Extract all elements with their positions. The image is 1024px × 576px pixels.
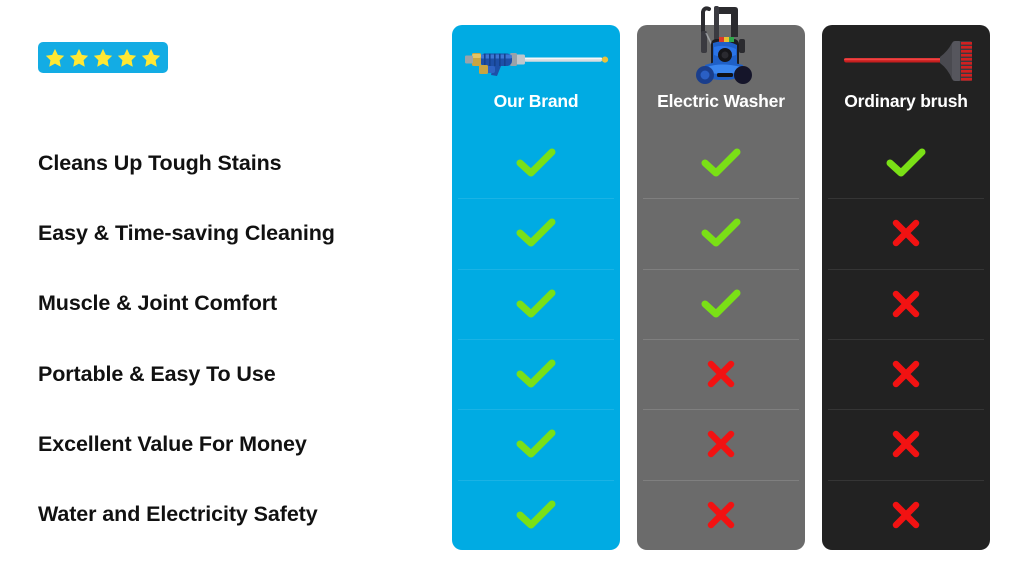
mark-cell (452, 269, 620, 339)
column-header-our-brand: Our Brand (452, 91, 620, 128)
mark-cell (822, 409, 990, 479)
comparison-column-electric-washer: Electric Washer (637, 25, 805, 550)
mark-cell (452, 409, 620, 479)
star-icon (116, 47, 138, 69)
feature-label: Excellent Value For Money (38, 432, 307, 457)
comparison-column-our-brand: Our Brand (452, 25, 620, 550)
product-image-ordinary-brush (822, 25, 990, 91)
check-icon (699, 214, 743, 252)
check-icon (514, 355, 558, 393)
feature-label: Portable & Easy To Use (38, 362, 276, 387)
feature-label: Easy & Time-saving Cleaning (38, 221, 335, 246)
column-title: Electric Washer (657, 91, 785, 112)
check-icon (514, 425, 558, 463)
star-icon (92, 47, 114, 69)
mark-list-our-brand (452, 128, 620, 550)
product-image-electric-washer (637, 25, 805, 91)
cross-icon (704, 357, 738, 391)
pressure-washer-wand-icon (460, 41, 612, 81)
check-icon (514, 285, 558, 323)
mark-cell (637, 339, 805, 409)
cross-icon (889, 216, 923, 250)
feature-label-list: Cleans Up Tough Stains Easy & Time-savin… (38, 128, 438, 550)
check-icon (514, 144, 558, 182)
product-image-our-brand (452, 25, 620, 91)
cross-icon (889, 427, 923, 461)
feature-row: Water and Electricity Safety (38, 480, 438, 550)
feature-label: Muscle & Joint Comfort (38, 291, 277, 316)
mark-cell (637, 269, 805, 339)
feature-label: Water and Electricity Safety (38, 502, 318, 527)
check-icon (884, 144, 928, 182)
column-title: Our Brand (494, 91, 579, 112)
mark-cell (822, 198, 990, 268)
check-icon (514, 496, 558, 534)
column-header-electric-washer: Electric Washer (637, 91, 805, 128)
mark-cell (637, 198, 805, 268)
cross-icon (889, 498, 923, 532)
column-header-ordinary-brush: Ordinary brush (822, 91, 990, 128)
mark-cell (452, 480, 620, 550)
feature-row: Portable & Easy To Use (38, 339, 438, 409)
mark-cell (637, 409, 805, 479)
cross-icon (889, 287, 923, 321)
mark-list-ordinary-brush (822, 128, 990, 550)
mark-cell (822, 128, 990, 198)
cross-icon (889, 357, 923, 391)
mark-cell (637, 128, 805, 198)
cross-icon (704, 427, 738, 461)
feature-row: Excellent Value For Money (38, 409, 438, 479)
cross-icon (704, 498, 738, 532)
check-icon (514, 214, 558, 252)
mark-cell (822, 269, 990, 339)
mark-cell (822, 339, 990, 409)
comparison-column-ordinary-brush: Ordinary brush (822, 25, 990, 550)
cleaning-brush-icon (836, 33, 976, 89)
mark-list-electric-washer (637, 128, 805, 550)
mark-cell (452, 339, 620, 409)
feature-row: Cleans Up Tough Stains (38, 128, 438, 198)
mark-cell (452, 128, 620, 198)
star-icon (140, 47, 162, 69)
mark-cell (452, 198, 620, 268)
check-icon (699, 144, 743, 182)
star-icon (44, 47, 66, 69)
electric-pressure-washer-icon (673, 3, 769, 95)
comparison-chart: Cleans Up Tough Stains Easy & Time-savin… (0, 0, 1024, 576)
star-icon (68, 47, 90, 69)
column-title: Ordinary brush (844, 91, 968, 112)
mark-cell (822, 480, 990, 550)
star-rating-badge (38, 42, 168, 73)
feature-label: Cleans Up Tough Stains (38, 151, 281, 176)
mark-cell (637, 480, 805, 550)
feature-row: Easy & Time-saving Cleaning (38, 198, 438, 268)
check-icon (699, 285, 743, 323)
feature-row: Muscle & Joint Comfort (38, 269, 438, 339)
